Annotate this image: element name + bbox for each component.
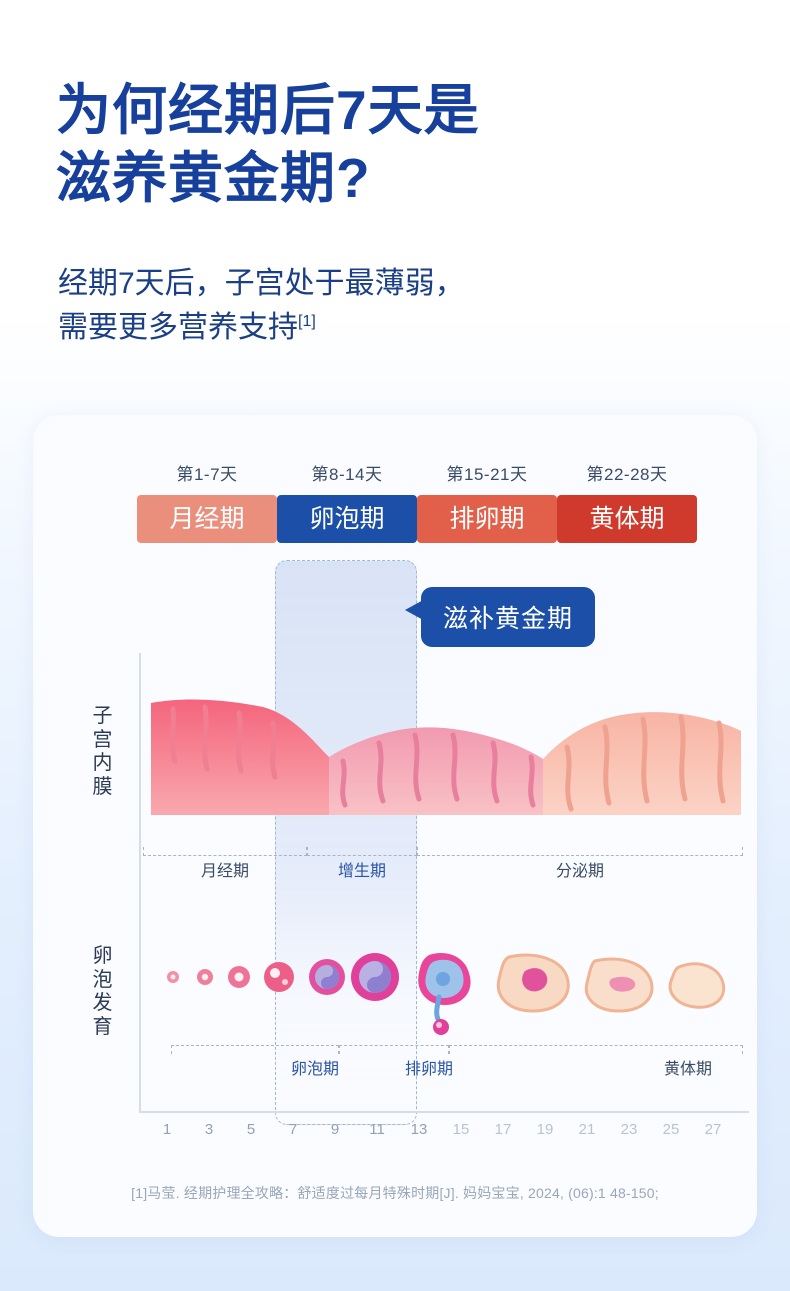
x-axis-ticks: 1 3 5 7 9 11 13 15 17 19 21 23 25 27 [139,1121,753,1145]
x-tick: 7 [289,1121,297,1138]
phase-header-row: 第1-7天 月经期 第8-14天 卵泡期 第15-21天 排卵期 第22-28天… [137,460,697,543]
stage-bracket-menstrual [143,847,307,856]
x-tick: 23 [621,1121,638,1138]
stage-label-secretory: 分泌期 [417,857,743,881]
cycle-chart: 滋补黄金期 子宫内膜 卵泡发育 [33,555,757,1155]
x-tick: 11 [369,1121,385,1138]
page-root: 为何经期后7天是 滋养黄金期? 经期7天后，子宫处于最薄弱， 需要更多营养支持[… [0,0,790,1291]
phase-column-luteal: 第22-28天 黄体期 [557,460,697,543]
page-title: 为何经期后7天是 滋养黄金期? [56,76,480,212]
phase-days-label: 第1-7天 [137,460,277,485]
y-axis-label-follicle: 卵泡发育 [91,945,115,1039]
x-tick: 3 [205,1121,213,1138]
page-subtitle: 经期7天后，子宫处于最薄弱， 需要更多营养支持[1] [58,262,465,349]
x-tick: 21 [579,1121,596,1138]
phase-pill-ovulation[interactable]: 排卵期 [417,495,557,543]
follicle-label-ovulation: 排卵期 [339,1055,519,1079]
phase-column-follicular: 第8-14天 卵泡期 [277,460,417,543]
stage-label-proliferative: 增生期 [307,857,417,881]
phase-column-menstrual: 第1-7天 月经期 [137,460,277,543]
x-tick: 13 [411,1121,428,1138]
phase-column-ovulation: 第15-21天 排卵期 [417,460,557,543]
stage-label-menstrual: 月经期 [143,857,307,881]
y-axis-line [139,653,141,1113]
x-tick: 27 [705,1121,722,1138]
y-axis-label-endometrium: 子宫内膜 [91,705,115,799]
phase-days-label: 第22-28天 [557,460,697,485]
x-tick: 25 [663,1121,680,1138]
x-tick: 9 [331,1121,339,1138]
stage-bracket-secretory [417,847,743,856]
endometrium-illustration [143,685,743,845]
phase-pill-menstrual[interactable]: 月经期 [137,495,277,543]
subtitle-text: 经期7天后，子宫处于最薄弱， 需要更多营养支持 [58,267,465,344]
endometrium-svg [143,685,743,845]
chart-footnote: [1]马莹. 经期护理全攻略：舒适度过每月特殊时期[J]. 妈妈宝宝, 2024… [33,1183,757,1203]
x-tick: 1 [163,1121,171,1138]
x-tick: 15 [453,1121,470,1138]
follicle-illustration [143,935,743,1045]
phase-days-label: 第15-21天 [417,460,557,485]
cycle-chart-card: 第1-7天 月经期 第8-14天 卵泡期 第15-21天 排卵期 第22-28天… [33,415,757,1237]
follicle-bracket-luteal [449,1045,743,1054]
x-tick: 5 [247,1121,255,1138]
x-tick: 19 [537,1121,554,1138]
follicle-bracket-ovulation [339,1045,449,1054]
follicle-bracket-follicular [171,1045,339,1054]
x-axis-line [139,1111,749,1113]
follicle-label-luteal: 黄体期 [633,1055,743,1079]
phase-days-label: 第8-14天 [277,460,417,485]
phase-pill-luteal[interactable]: 黄体期 [557,495,697,543]
citation-marker: [1] [298,313,316,330]
golden-period-callout: 滋补黄金期 [421,587,595,647]
phase-pill-follicular[interactable]: 卵泡期 [277,495,417,543]
stage-bracket-proliferative [307,847,417,856]
x-tick: 17 [495,1121,512,1138]
follicle-svg [143,935,743,1045]
